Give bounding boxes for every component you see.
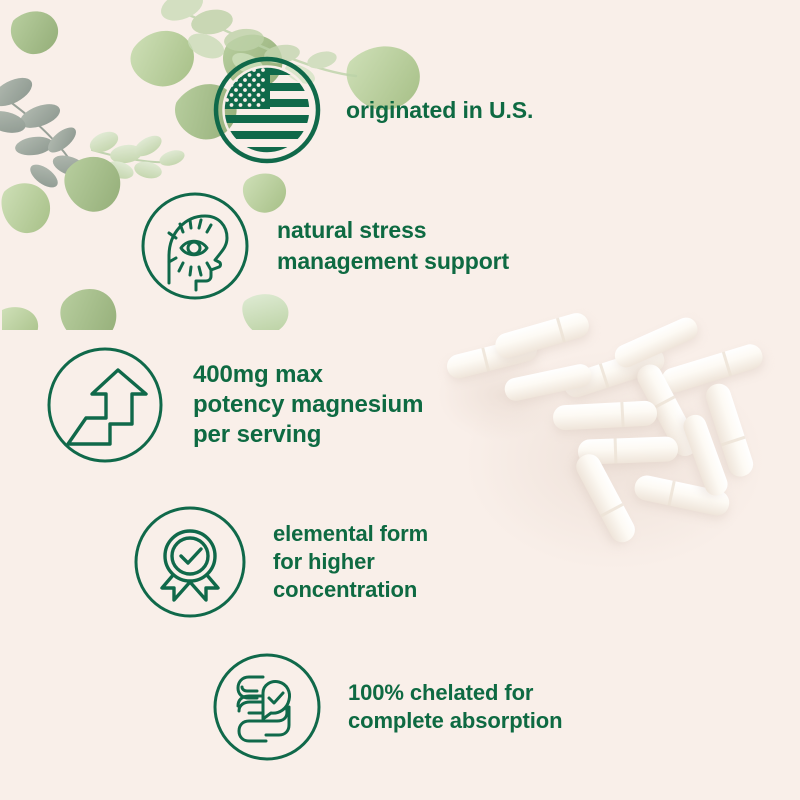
benefit-item-max-potency: 400mg max potency magnesium per serving [44, 344, 423, 466]
benefit-label-max-potency: 400mg max potency magnesium per serving [193, 360, 423, 450]
benefit-label-stress-support: natural stress management support [277, 215, 509, 277]
capsule-group [444, 310, 766, 548]
sage-branch [0, 72, 109, 202]
digestive-tract-check-icon [211, 651, 323, 763]
benefit-label-chelated-absorption: 100% chelated for complete absorption [348, 679, 562, 735]
eucalyptus-sprig-left [87, 128, 187, 182]
head-mind-eye-icon [139, 190, 251, 302]
us-flag-circle-icon [212, 55, 322, 165]
benefit-item-chelated-absorption: 100% chelated for complete absorption [211, 651, 562, 763]
benefit-label-elemental-form: elemental form for higher concentration [273, 520, 428, 604]
benefit-item-originated-us: originated in U.S. [212, 55, 533, 165]
upward-zigzag-arrow-icon [44, 344, 166, 466]
benefit-label-originated-us: originated in U.S. [346, 95, 533, 125]
benefit-item-stress-support: natural stress management support [139, 190, 509, 302]
benefit-item-elemental-form: elemental form for higher concentration [132, 504, 428, 620]
product-benefits-infographic: originated in U.S. [0, 0, 800, 800]
white-capsules-photo [430, 290, 800, 580]
award-ribbon-check-icon [132, 504, 248, 620]
